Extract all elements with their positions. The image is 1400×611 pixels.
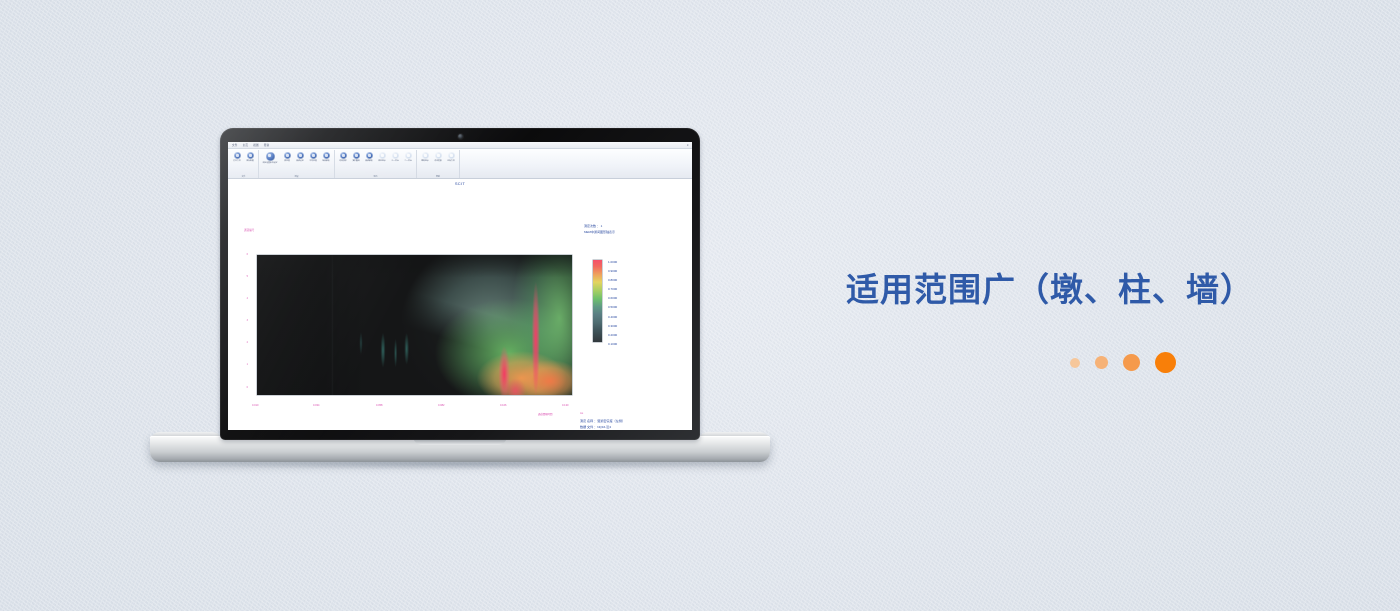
ribbon-button-preprocess[interactable]: 预处理 — [281, 151, 294, 162]
x-tick: 0.058 — [376, 404, 383, 407]
waveform-icon — [340, 152, 347, 159]
overlay-icon — [353, 152, 360, 159]
ribbon-group-measure: 测定设置条件设定 预处理 频谱设定 — [259, 150, 335, 178]
info-data-file: 数据 文件 ：NQ16-近4 — [580, 424, 625, 430]
save-icon — [247, 152, 254, 159]
measurement-info-top: 測定次数 ： 1 MEM中通间图形轴表示 — [584, 224, 615, 235]
analysis-icon — [323, 152, 330, 159]
ribbon-group-display: 时间波形 波形叠加 频谱解析 — [335, 150, 417, 178]
scit-application: 文件 主页 视图 帮助 ✕ 打开文件 — [228, 142, 692, 430]
slide-dot-3[interactable] — [1123, 354, 1140, 371]
spectrogram-heatmap — [257, 255, 572, 395]
ribbon-toolbar: 打开文件 保存数据 文件 — [228, 149, 692, 179]
ribbon-button-phase[interactable]: 相位显示 — [376, 151, 389, 162]
ribbon-button-archive[interactable]: 已存文件 — [445, 151, 458, 162]
menu-item-help[interactable]: 帮助 — [264, 143, 270, 147]
ribbon-group-file: 打开文件 保存数据 文件 — [229, 150, 259, 178]
ribbon-button-two-d[interactable]: 二一次元 — [402, 151, 415, 162]
chart-area: 通道编号 6 5 4 3 2 1 0 — [228, 186, 692, 430]
x-tick: 0.082 — [438, 404, 445, 407]
ribbon-group-label: 帮助 — [436, 175, 440, 179]
ribbon-group-label: 文件 — [241, 175, 245, 179]
menu-item-home[interactable]: 主页 — [243, 143, 249, 147]
ribbon-button-save-data[interactable]: 保存数据 — [244, 151, 257, 162]
phase-icon — [379, 152, 386, 159]
y-tick: 1 — [240, 363, 248, 366]
ribbon-button-settings[interactable]: 测定设置条件设定 — [261, 151, 281, 164]
colorbar-tick: 0.6000 — [608, 294, 617, 303]
ribbon-group-label: 显示 — [373, 175, 377, 179]
slide-dot-1[interactable] — [1070, 358, 1080, 368]
y-tick: 5 — [240, 275, 248, 278]
y-tick: 4 — [240, 297, 248, 300]
colorbar-tick: 0.3000 — [608, 322, 617, 331]
laptop-lid: 文件 主页 视图 帮助 ✕ 打开文件 — [220, 128, 700, 440]
colorbar-tick: 0.4000 — [608, 313, 617, 322]
menu-item-view[interactable]: 视图 — [253, 143, 259, 147]
slide-pagination — [1070, 352, 1176, 373]
laptop-screen: 文件 主页 视图 帮助 ✕ 打开文件 — [228, 142, 692, 430]
help-icon — [422, 152, 429, 159]
ribbon-group-label: 测量 — [294, 175, 298, 179]
measurement-info-bottom: 測定 名称 ：灌浆密实度（左侧） 数据 文件 ：NQ16-近4 触发 输出 ：1… — [580, 418, 625, 430]
display-mode: MEM中通间图形轴表示 — [584, 230, 615, 236]
three-d-icon — [392, 152, 399, 159]
preprocess-icon — [284, 152, 291, 159]
y-axis-label: 通道编号 — [244, 228, 254, 232]
ribbon-button-help[interactable]: 帮助显示 — [419, 151, 432, 162]
ribbon-button-average[interactable]: 平均处理 — [307, 151, 320, 162]
slide-headline: 适用范围广（墩、柱、墙） — [846, 263, 1254, 311]
close-icon[interactable]: ✕ — [687, 144, 689, 147]
settings-icon — [266, 152, 275, 161]
colorbar-tick: 0.8000 — [608, 276, 617, 285]
ribbon-button-analysis[interactable]: 结果解析 — [320, 151, 333, 162]
menu-item-file[interactable]: 文件 — [232, 143, 238, 147]
x-tick: 0.106 — [500, 404, 507, 407]
ribbon-empty-area — [460, 150, 692, 178]
page-title: SCIT — [228, 179, 692, 186]
colorbar-tick: 0.7000 — [608, 285, 617, 294]
average-icon — [310, 152, 317, 159]
open-file-icon — [234, 152, 241, 159]
ribbon-button-info[interactable]: 对话信息 — [432, 151, 445, 162]
fft-icon — [366, 152, 373, 159]
ribbon-button-three-d[interactable]: 三一次元 — [389, 151, 402, 162]
x-axis-label: 通道間隔時間 — [538, 412, 552, 416]
slide-dot-2[interactable] — [1095, 356, 1108, 369]
slide-dot-4[interactable] — [1155, 352, 1176, 373]
menu-bar: 文件 主页 视图 帮助 ✕ — [228, 142, 692, 149]
colorbar-tick: 0.2000 — [608, 331, 617, 340]
colorbar-tick-labels: 1.0000 0.9000 0.8000 0.7000 0.6000 0.500… — [608, 258, 617, 349]
webcam-icon — [458, 134, 463, 139]
y-tick: 0 — [240, 386, 248, 389]
ribbon-button-fft[interactable]: 频谱解析 — [363, 151, 376, 162]
ribbon-button-open-file[interactable]: 打开文件 — [231, 151, 244, 162]
y-tick: 2 — [240, 341, 248, 344]
ribbon-button-overlay[interactable]: 波形叠加 — [350, 151, 363, 162]
two-d-icon — [405, 152, 412, 159]
colorbar-tick: 0.1000 — [608, 340, 617, 349]
colorbar-gradient — [593, 260, 602, 342]
x-axis-unit: ms — [580, 412, 583, 415]
ribbon-group-help: 帮助显示 对话信息 已存文件 — [417, 150, 460, 178]
slide-canvas: 文件 主页 视图 帮助 ✕ 打开文件 — [0, 0, 1400, 611]
archive-icon — [448, 152, 455, 159]
colorbar-tick: 1.0000 — [608, 258, 617, 267]
x-tick: 0.010 — [252, 404, 259, 407]
ribbon-button-waveform[interactable]: 时间波形 — [337, 151, 350, 162]
x-tick: 0.130 — [562, 404, 569, 407]
x-tick: 0.034 — [313, 404, 320, 407]
colorbar-tick: 0.5000 — [608, 303, 617, 312]
spectrum-icon — [297, 152, 304, 159]
colorbar-tick: 0.9000 — [608, 267, 617, 276]
laptop-mockup: 文件 主页 视图 帮助 ✕ 打开文件 — [150, 128, 770, 476]
info-icon — [435, 152, 442, 159]
y-tick: 3 — [240, 319, 248, 322]
ribbon-button-spectrum[interactable]: 频谱设定 — [294, 151, 307, 162]
y-tick: 6 — [240, 253, 248, 256]
